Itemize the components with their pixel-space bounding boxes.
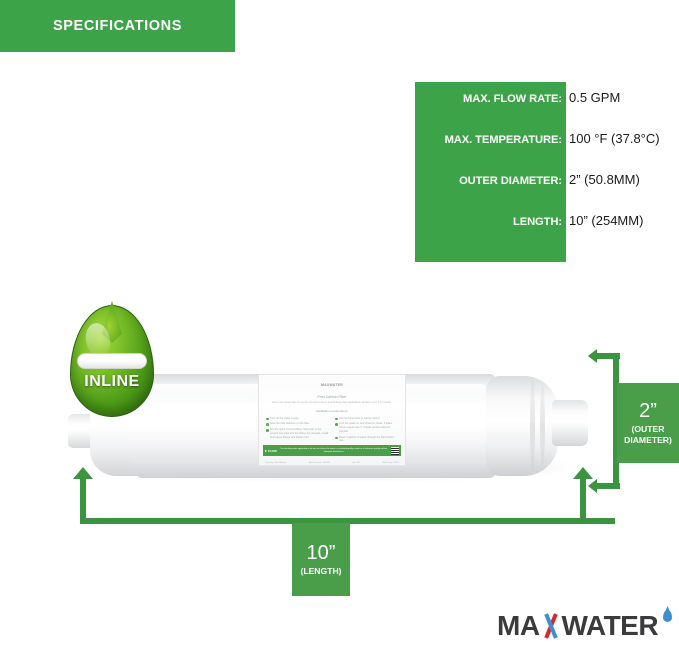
product-spec-infographic: SPECIFICATIONS MAX. FLOW RATE: 0.5 GPM M… bbox=[0, 0, 679, 647]
spec-label-outer-diameter: OUTER DIAMETER: bbox=[415, 175, 566, 187]
label-step: Use tool wrenches to tighten tubing. bbox=[335, 417, 398, 421]
spec-row-length: LENGTH: 10” (254MM) bbox=[415, 213, 679, 254]
filter-cap-ring-outer bbox=[530, 380, 535, 470]
spec-label-temperature: MAX. TEMPERATURE: bbox=[415, 134, 566, 146]
filter-cap-ring-inner bbox=[540, 384, 545, 466]
spec-label-flow-rate: MAX. FLOW RATE: bbox=[415, 93, 566, 105]
bullet-icon bbox=[266, 429, 269, 432]
specifications-banner-title: SPECIFICATIONS bbox=[53, 18, 182, 34]
label-step: Flush 4 gallons of water through the fil… bbox=[335, 436, 398, 444]
logo-part-1: MA bbox=[497, 612, 540, 640]
outer-diameter-caption: (OUTER DIAMETER) bbox=[624, 424, 672, 445]
spec-row-outer-diameter: OUTER DIAMETER: 2” (50.8MM) bbox=[415, 172, 679, 213]
label-step-text: Turn the water on and check for leaks. I… bbox=[339, 422, 398, 433]
label-brand: MAXWATER bbox=[259, 383, 405, 387]
qr-code-icon bbox=[391, 447, 399, 455]
label-step: Note the flow direction on the filter. bbox=[266, 422, 329, 426]
specifications-banner: SPECIFICATIONS bbox=[0, 0, 235, 52]
spec-value-flow-rate: 0.5 GPM bbox=[566, 90, 620, 105]
label-temp: Max Temp: 100°F bbox=[383, 462, 399, 464]
label-step-text: For the quick connect fitting, fully pus… bbox=[270, 428, 329, 439]
label-step: Shut off the water supply. bbox=[266, 417, 329, 421]
spec-value-outer-diameter: 2” (50.8MM) bbox=[566, 172, 640, 187]
filter-product-label: MAXWATER Post Carbon Filter Inline post … bbox=[258, 374, 406, 466]
spec-row-temperature: MAX. TEMPERATURE: 100 °F (37.8°C) bbox=[415, 131, 679, 172]
label-step: Turn the water on and check for leaks. I… bbox=[335, 422, 398, 433]
label-pressure: Max Pressure: 100 PSI bbox=[309, 462, 330, 464]
spec-row-flow-rate: MAX. FLOW RATE: 0.5 GPM bbox=[415, 90, 679, 131]
outer-diameter-callout: 2” (OUTER DIAMETER) bbox=[617, 383, 679, 463]
specifications-list: MAX. FLOW RATE: 0.5 GPM MAX. TEMPERATURE… bbox=[415, 82, 679, 262]
bullet-icon bbox=[266, 418, 269, 421]
maxwater-logo-text: MA X WATER bbox=[497, 612, 658, 640]
logo-part-2: WATER bbox=[562, 612, 659, 640]
length-arrow-right-icon bbox=[580, 478, 586, 523]
label-step-text: Shut off the water supply. bbox=[270, 417, 299, 421]
label-capacity: Capacity: 500-1500 gal bbox=[265, 462, 286, 464]
spec-label-length: LENGTH: bbox=[415, 216, 566, 228]
label-steps-right: Use tool wrenches to tighten tubing. Tur… bbox=[335, 417, 398, 446]
length-arrow-left-icon bbox=[80, 478, 86, 523]
length-callout: 10” (LENGTH) bbox=[292, 523, 350, 596]
label-warning-text: For drinking water applications, do not … bbox=[279, 448, 389, 454]
bullet-icon bbox=[335, 423, 338, 426]
outer-diameter-caption-line1: (OUTER bbox=[632, 424, 665, 434]
inline-badge: INLINE bbox=[62, 305, 162, 423]
label-flow-bar: FLOW For drinking water applications, do… bbox=[263, 445, 401, 456]
filter-outlet-port bbox=[552, 400, 588, 446]
label-instruction-columns: Shut off the water supply. Note the flow… bbox=[259, 413, 405, 446]
bullet-icon bbox=[335, 418, 338, 421]
label-flow-indicator: FLOW bbox=[265, 449, 277, 453]
length-caption: (LENGTH) bbox=[300, 566, 341, 577]
bullet-icon bbox=[266, 423, 269, 426]
spec-value-temperature: 100 °F (37.8°C) bbox=[566, 131, 660, 146]
label-flow-text: FLOW bbox=[268, 449, 277, 453]
label-ph: pH: 3-11 bbox=[353, 462, 361, 464]
label-step-text: Use tool wrenches to tighten tubing. bbox=[339, 417, 380, 421]
label-step-text: Flush 4 gallons of water through the fil… bbox=[339, 436, 398, 444]
outer-diameter-caption-line2: DIAMETER) bbox=[624, 435, 672, 445]
outer-diameter-value: 2” bbox=[639, 401, 657, 421]
spec-value-length: 10” (254MM) bbox=[566, 213, 643, 228]
label-step-text: Note the flow direction on the filter. bbox=[270, 422, 310, 426]
label-title: Post Carbon Filter bbox=[259, 395, 405, 399]
outer-diameter-arrow-top-icon bbox=[596, 353, 620, 359]
filter-right-cap bbox=[486, 376, 558, 476]
flow-arrow-icon bbox=[265, 450, 267, 452]
inline-badge-pill bbox=[77, 353, 147, 369]
outer-diameter-arrow-bottom-icon bbox=[596, 483, 620, 489]
label-steps-left: Shut off the water supply. Note the flow… bbox=[266, 417, 329, 446]
logo-water-drop-icon bbox=[663, 610, 672, 622]
inline-badge-label: INLINE bbox=[62, 373, 162, 391]
bullet-icon bbox=[335, 437, 338, 440]
logo-x-icon: X bbox=[540, 612, 562, 640]
length-value: 10” bbox=[307, 543, 336, 563]
label-step: For the quick connect fitting, fully pus… bbox=[266, 428, 329, 439]
label-subtitle: Inline post carbon filter for reverse os… bbox=[259, 401, 405, 405]
label-spec-footer: Capacity: 500-1500 gal Max Pressure: 100… bbox=[265, 462, 399, 464]
maxwater-logo: MA X WATER bbox=[497, 612, 672, 640]
